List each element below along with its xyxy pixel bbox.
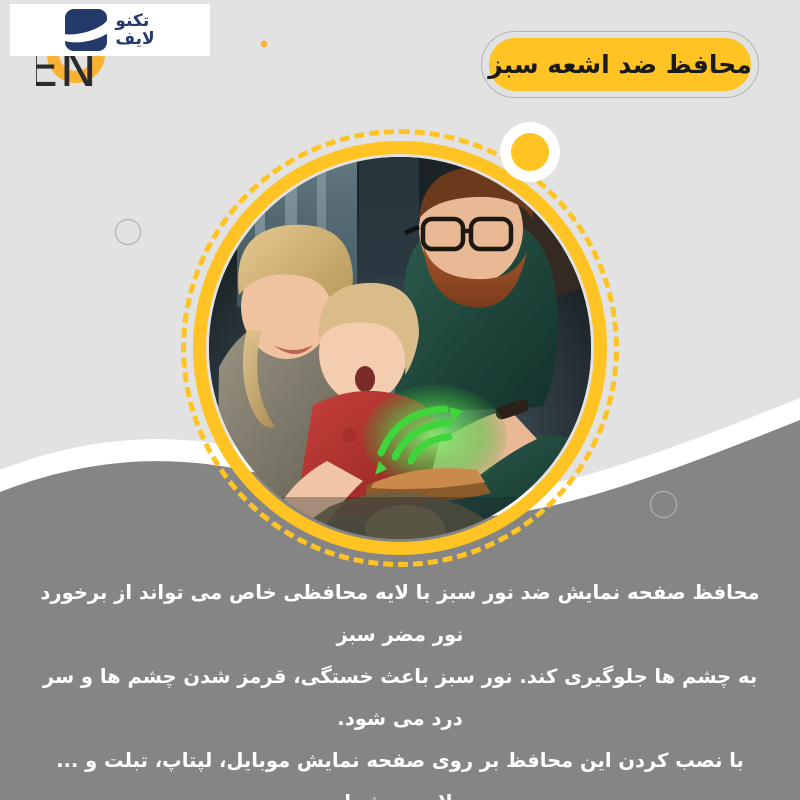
description-text: محافظ صفحه نمایش ضد نور سبز با لایه محاف… [34, 572, 766, 800]
description-line: محافظ صفحه نمایش ضد نور سبز با لایه محاف… [34, 572, 766, 656]
family-photo [209, 157, 591, 539]
techno-life-watermark: تکنو لایف [10, 4, 210, 56]
product-banner: BABEN تکنو لایف محافظ ضد اشعه سبز محافظ … [0, 0, 800, 800]
watermark-line-2: لایف [115, 31, 154, 48]
description-line: به چشم ها جلوگیری کند. نور سبز باعث خستگ… [34, 656, 766, 740]
description-line: با نصب کردن این محافظ بر روی صفحه نمایش … [34, 740, 766, 800]
hero-circle [190, 138, 610, 558]
watermark-line-1: تکنو [115, 13, 149, 30]
decorative-circle-left [115, 219, 141, 245]
feature-badge[interactable]: محافظ ضد اشعه سبز [489, 38, 751, 91]
swoosh-mark-icon [65, 9, 107, 51]
decorative-circle-right [650, 491, 677, 518]
yellow-dot-accent [500, 122, 560, 182]
feature-badge-label: محافظ ضد اشعه سبز [488, 50, 752, 79]
